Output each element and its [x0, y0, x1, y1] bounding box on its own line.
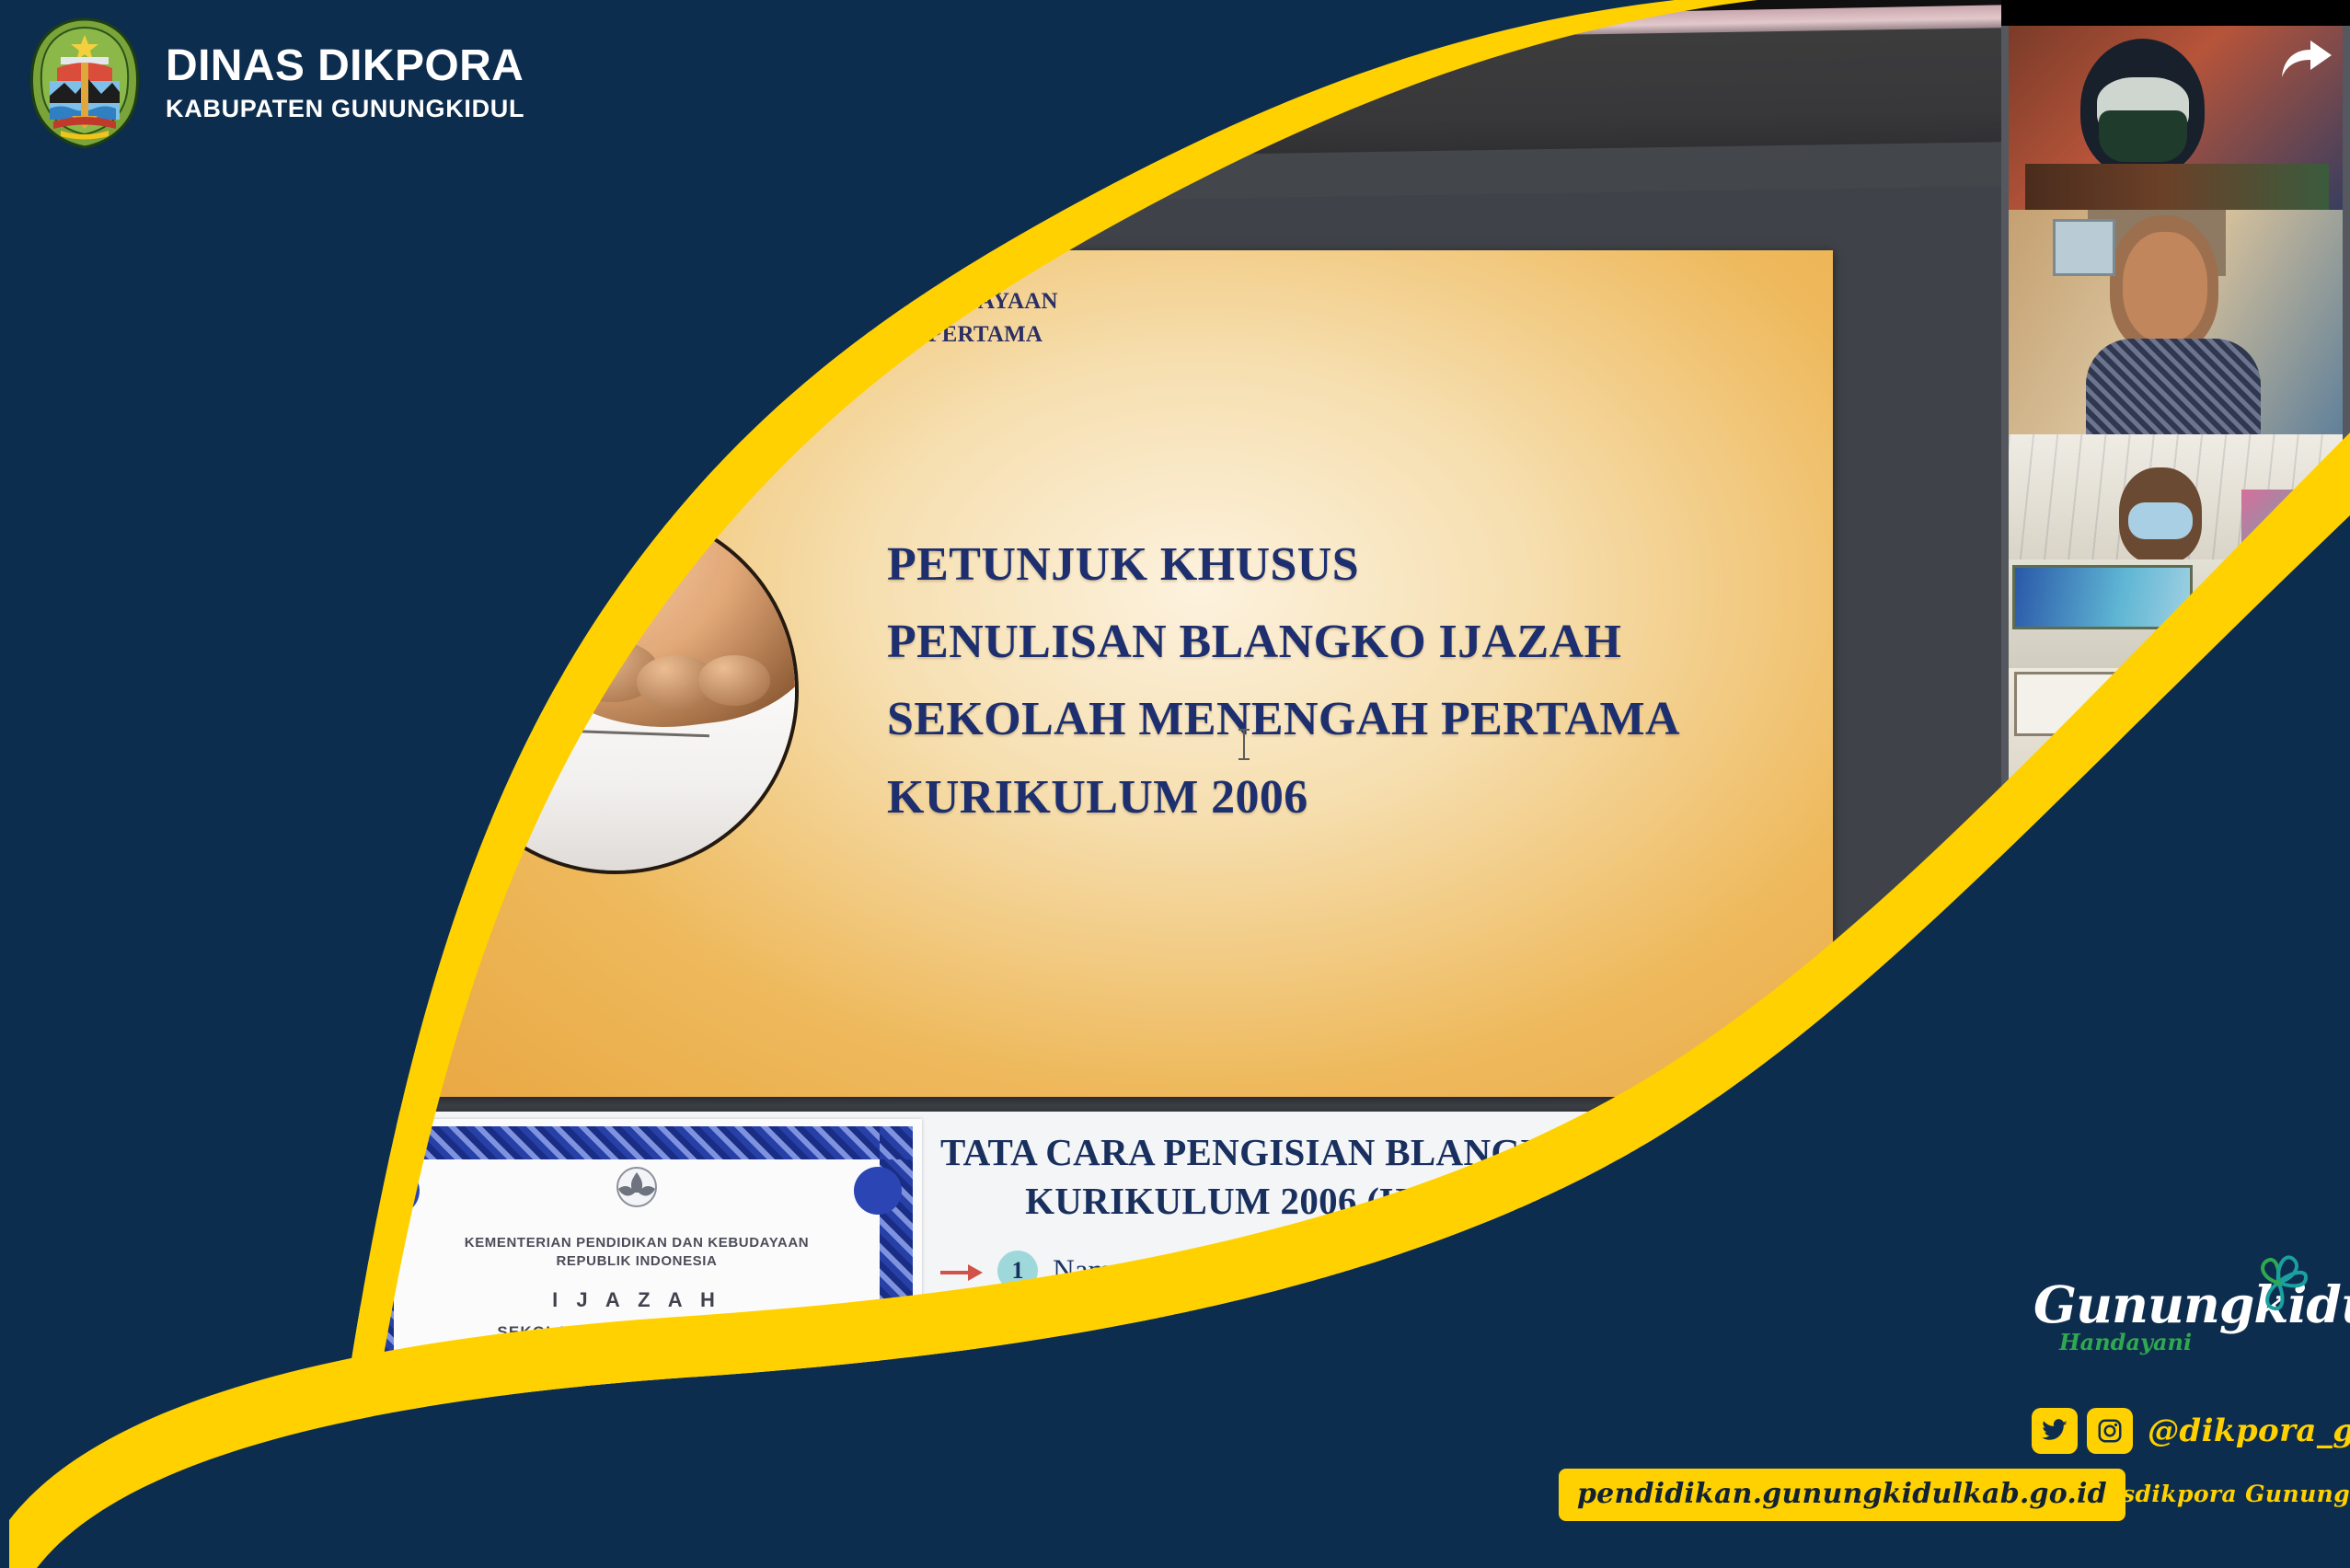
share-arrow-icon[interactable]: [2280, 39, 2333, 81]
slide1-ministry-text: KEMENTERIAN PENDIDIKAN DAN KEBUDAYAAN DI…: [499, 285, 1058, 382]
cert-title: I J A Z A H: [394, 1288, 880, 1312]
item-number-badge: 1: [997, 1251, 1038, 1291]
slide2-list-item: 2 Nomor Pokok Sekolah Nasional (NPSN): [940, 1368, 1816, 1409]
participant-tile-4[interactable]: [2009, 559, 2343, 679]
item-text: Nomor Pokok Sekolah Nasional (NPSN): [1053, 1368, 1550, 1409]
ministry-website: ditsmp.kemdikbud.go.id: [499, 354, 1058, 382]
tut-wuri-handayani-logo-icon: [368, 272, 486, 396]
cert-year: TAHUN PELAJARAN 2020/2021: [394, 1343, 880, 1356]
video-panel-top-bar: [2001, 0, 2350, 26]
pdf-page-12: KEMENTERIAN PENDIDIKAN DAN KEBUDAYAAN DI…: [324, 250, 1833, 1097]
item-number-badge: 2: [997, 1368, 1038, 1409]
participant-tile-6[interactable]: [2009, 784, 2343, 909]
cert-ministry-line-2: REPUBLIK INDONESIA: [394, 1253, 880, 1269]
cert-field-label-1: Yang bertanda tangan di bawah ini, Kepal…: [453, 1388, 852, 1401]
slide2-heading-line-2: KURIKULUM 2006 (HALAMAN DEPAN): [940, 1177, 1816, 1226]
participant-video-panel: [2001, 0, 2350, 1568]
cert-callout-1: 1: [670, 1377, 707, 1413]
garuda-pancasila-icon: [611, 1165, 662, 1220]
cert-field-label-2: Nomor Pokok Sekolah Nasional :: [453, 1452, 852, 1465]
pdf-toolbar-controls: 12 / 55 − 100% +: [626, 77, 1038, 121]
item-text: Nama sekolah bersangkutan yang menerbitk…: [1053, 1251, 1816, 1332]
arrow-icon: [940, 1263, 983, 1282]
item-number-badge: 3: [997, 1440, 1038, 1481]
pdf-page-13: KEMENTERIAN PENDIDIKAN DAN KEBUDAYAAN RE…: [324, 1112, 1833, 1568]
participant-tile-3[interactable]: [2009, 434, 2343, 563]
slide1-title-line-3: SEKOLAH MENENGAH PERTAMA: [887, 681, 1680, 758]
ministry-line-2: DIREKTORAT SEKOLAH MENENGAH PERTAMA: [499, 318, 1058, 352]
slide1-title: PETUNJUK KHUSUS PENULISAN BLANGKO IJAZAH…: [887, 526, 1680, 836]
slide2-list-item: 3 Nama nomenklatur kabupaten/kota*) (cor…: [940, 1440, 1816, 1521]
screen-share-region: 12 / 55 − 100% +: [0, 0, 2001, 1568]
cert-callout-4: 4: [486, 1531, 523, 1568]
slide1-title-line-2: PENULISAN BLANGKO IJAZAH: [887, 604, 1680, 681]
participant-tile-5[interactable]: [2009, 668, 2343, 788]
slide1-title-line-4: KURIKULUM 2006: [887, 759, 1680, 836]
slide2-list-item: 1 Nama sekolah bersangkutan yang menerbi…: [940, 1251, 1816, 1332]
zoom-out-button[interactable]: −: [751, 86, 788, 115]
slide1-title-line-1: PETUNJUK KHUSUS: [887, 526, 1680, 604]
fit-page-icon[interactable]: [953, 78, 990, 116]
ijazah-blank-form-image: KEMENTERIAN PENDIDIKAN DAN KEBUDAYAAN RE…: [351, 1119, 922, 1568]
cert-ministry-line-1: KEMENTERIAN PENDIDIKAN DAN KEBUDAYAAN: [394, 1235, 880, 1251]
zoom-level-input[interactable]: 100%: [791, 85, 859, 114]
cert-level: SEKOLAH MENENGAH PERTAMA: [394, 1323, 880, 1342]
arrow-icon: [940, 1381, 983, 1400]
slide2-heading-line-1: TATA CARA PENGISIAN BLANGKO IJAZAH SMP: [940, 1128, 1816, 1177]
cert-callout-2: 2: [613, 1441, 650, 1478]
arrow-icon: [940, 1453, 983, 1471]
participant-tile-2[interactable]: [2009, 210, 2343, 442]
toolbar-divider-1: [729, 87, 731, 115]
ministry-line-1: KEMENTERIAN PENDIDIKAN DAN KEBUDAYAAN: [499, 285, 1058, 318]
rotate-clockwise-icon[interactable]: [1001, 77, 1038, 115]
hand-writing-with-pen-photo: [432, 508, 799, 874]
slide2-content: TATA CARA PENGISIAN BLANGKO IJAZAH SMP K…: [940, 1128, 1816, 1568]
item-text: Nama nomenklatur kabupaten/kota*) (coret…: [1053, 1440, 1816, 1521]
cert-field-label-3: Kabupaten/Kota: [453, 1498, 852, 1511]
screenshot-root: 12 / 55 − 100% +: [0, 0, 2350, 1568]
zoom-in-button[interactable]: +: [863, 85, 900, 113]
text-cursor: [1243, 729, 1245, 760]
page-count-label: / 55: [673, 89, 708, 114]
cert-callout-3: 3: [532, 1487, 569, 1524]
page-number-input[interactable]: 12: [626, 87, 664, 118]
toolbar-divider-2: [920, 84, 922, 111]
participant-tile-7[interactable]: [2009, 907, 2343, 1110]
